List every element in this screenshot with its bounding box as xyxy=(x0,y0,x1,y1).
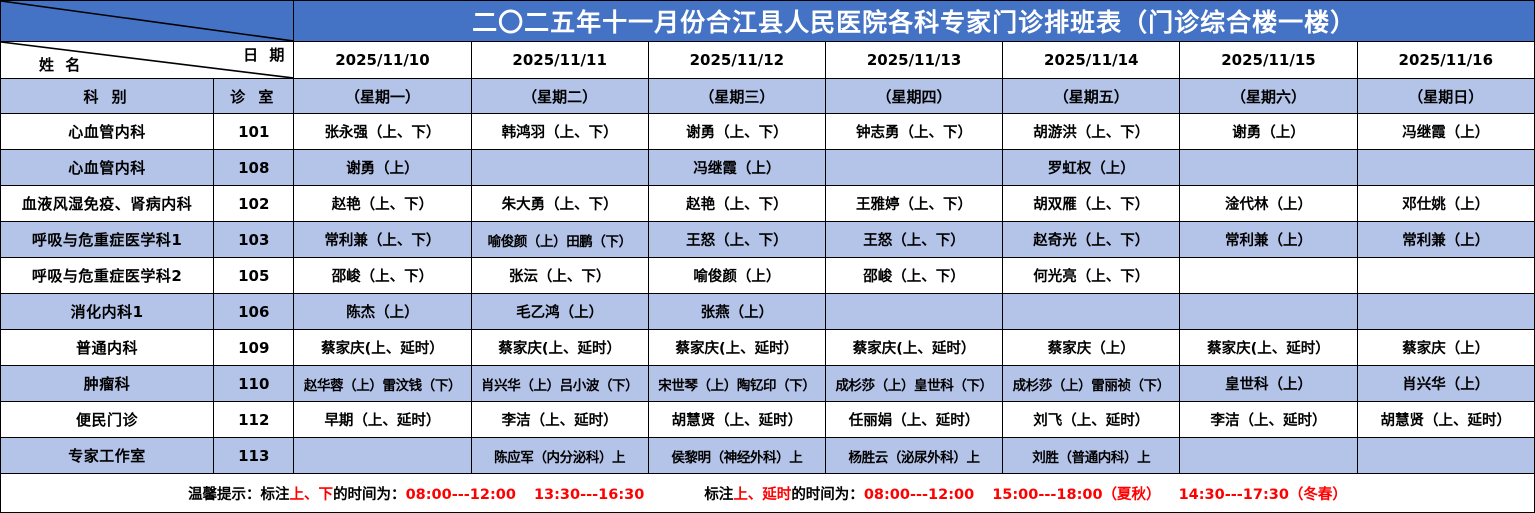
weekday-header-3: （星期四） xyxy=(825,79,1002,114)
weekday-header-2: （星期三） xyxy=(648,79,825,114)
title-row: 二〇二五年十一月份合江县人民医院各科专家门诊排班表（门诊综合楼一楼） xyxy=(1,1,1535,42)
room-number: 103 xyxy=(214,222,294,258)
schedule-cell: 常利兼（上、下） xyxy=(294,222,471,258)
schedule-cell: 胡双雁（上、下） xyxy=(1003,186,1180,222)
dept-name: 血液风湿免疫、肾病内科 xyxy=(1,186,214,222)
schedule-table: 二〇二五年十一月份合江县人民医院各科专家门诊排班表（门诊综合楼一楼） 姓 名 日… xyxy=(0,0,1535,513)
schedule-cell xyxy=(1003,294,1180,330)
schedule-cell: 刘飞（上、延时） xyxy=(1003,402,1180,438)
schedule-cell: 成杉莎（上）雷丽祯（下） xyxy=(1003,366,1180,402)
table-row: 便民门诊 112 早期（上、延时） 李洁（上、延时） 胡慧贤（上、延时） 任丽娟… xyxy=(1,402,1535,438)
schedule-cell: 胡慧贤（上、延时） xyxy=(1357,402,1534,438)
schedule-cell: 王雅婷（上、下） xyxy=(825,186,1002,222)
schedule-cell xyxy=(1180,438,1357,474)
schedule-cell xyxy=(294,438,471,474)
room-number: 109 xyxy=(214,330,294,366)
schedule-cell: 蔡家庆(上、延时） xyxy=(471,330,648,366)
schedule-cell xyxy=(1180,150,1357,186)
weekday-header-6: （星期日） xyxy=(1357,79,1534,114)
schedule-cell: 谢勇（上） xyxy=(1180,114,1357,150)
schedule-cell xyxy=(1180,294,1357,330)
schedule-cell: 朱大勇（上、下） xyxy=(471,186,648,222)
schedule-cell: 张燕（上） xyxy=(648,294,825,330)
schedule-cell: 陈杰（上） xyxy=(294,294,471,330)
schedule-cell: 赵奇光（上、下） xyxy=(1003,222,1180,258)
schedule-cell: 皇世科（上） xyxy=(1180,366,1357,402)
schedule-cell xyxy=(1357,294,1534,330)
schedule-cell: 韩鸿羽（上、下） xyxy=(471,114,648,150)
schedule-cell: 蔡家庆(上、延时） xyxy=(825,330,1002,366)
schedule-cell xyxy=(1357,150,1534,186)
schedule-cell xyxy=(825,150,1002,186)
name-label: 姓 名 xyxy=(39,54,83,75)
note-time-3: 08:00---12:00 xyxy=(864,487,974,503)
weekday-header-5: （星期六） xyxy=(1180,79,1357,114)
dept-name: 心血管内科 xyxy=(1,150,214,186)
schedule-cell: 赵艳（上、下） xyxy=(648,186,825,222)
room-number: 102 xyxy=(214,186,294,222)
schedule-cell: 淦代林（上） xyxy=(1180,186,1357,222)
schedule-cell: 成杉莎（上）皇世科（下） xyxy=(825,366,1002,402)
schedule-cell xyxy=(471,150,648,186)
table-row: 呼吸与危重症医学科1 103 常利兼（上、下） 喻俊颜（上）田鹏（下） 王怒（上… xyxy=(1,222,1535,258)
note-time-2: 13:30---16:30 xyxy=(534,487,644,503)
weekday-header-0: （星期一） xyxy=(294,79,471,114)
dept-name: 呼吸与危重症医学科2 xyxy=(1,258,214,294)
schedule-cell: 刘胜（普通内科）上 xyxy=(1003,438,1180,474)
schedule-cell xyxy=(1357,438,1534,474)
schedule-cell: 蔡家庆（上） xyxy=(1003,330,1180,366)
schedule-cell: 蔡家庆(上、延时） xyxy=(1180,330,1357,366)
weekday-header-1: （星期二） xyxy=(471,79,648,114)
date-header-0: 2025/11/10 xyxy=(294,42,471,79)
footer-note-row: 温馨提示：标注上、下的时间为：08:00---12:0013:30---16:3… xyxy=(1,474,1535,513)
room-number: 112 xyxy=(214,402,294,438)
dept-name: 消化内科1 xyxy=(1,294,214,330)
dept-name: 普通内科 xyxy=(1,330,214,366)
schedule-cell: 早期（上、延时） xyxy=(294,402,471,438)
table-row: 呼吸与危重症医学科2 105 邵峻（上、下） 张沄（上、下） 喻俊颜（上） 邵峻… xyxy=(1,258,1535,294)
schedule-cell: 李洁（上、延时） xyxy=(1180,402,1357,438)
note-seg2-tail: 的时间为： xyxy=(791,487,864,503)
schedule-cell xyxy=(825,294,1002,330)
schedule-cell: 谢勇（上、下） xyxy=(648,114,825,150)
dept-name: 专家工作室 xyxy=(1,438,214,474)
schedule-cell: 蔡家庆(上、延时） xyxy=(294,330,471,366)
schedule-cell: 王怒（上、下） xyxy=(825,222,1002,258)
schedule-cell: 肖兴华（上）吕小波（下） xyxy=(471,366,648,402)
note-shang-yanshi: 上、延时 xyxy=(733,487,791,503)
note-seg1-tail: 的时间为： xyxy=(333,487,406,503)
schedule-cell: 蔡家庆(上、延时） xyxy=(648,330,825,366)
schedule-cell: 杨胜云（泌尿外科）上 xyxy=(825,438,1002,474)
date-header-2: 2025/11/12 xyxy=(648,42,825,79)
schedule-cell: 喻俊颜（上）田鹏（下） xyxy=(471,222,648,258)
date-header-4: 2025/11/14 xyxy=(1003,42,1180,79)
schedule-cell: 毛乙鸿（上） xyxy=(471,294,648,330)
schedule-cell: 张永强（上、下） xyxy=(294,114,471,150)
title-corner-cell xyxy=(1,1,294,42)
dept-name: 肿瘤科 xyxy=(1,366,214,402)
table-row: 心血管内科 108 谢勇（上） 冯继霞（上） 罗虹权（上） xyxy=(1,150,1535,186)
schedule-cell: 胡游洪（上、下） xyxy=(1003,114,1180,150)
table-row: 消化内科1 106 陈杰（上） 毛乙鸿（上） 张燕（上） xyxy=(1,294,1535,330)
schedule-cell: 任丽娟（上、延时） xyxy=(825,402,1002,438)
schedule-cell: 喻俊颜（上） xyxy=(648,258,825,294)
schedule-cell: 邓仕姚（上） xyxy=(1357,186,1534,222)
room-number: 101 xyxy=(214,114,294,150)
name-date-corner: 姓 名 日 期 xyxy=(1,42,294,79)
table-row: 普通内科 109 蔡家庆(上、延时） 蔡家庆(上、延时） 蔡家庆(上、延时） 蔡… xyxy=(1,330,1535,366)
schedule-cell: 宋世琴（上）陶钇印（下） xyxy=(648,366,825,402)
schedule-cell: 王怒（上、下） xyxy=(648,222,825,258)
weekday-header-row: 科 别 诊 室 （星期一） （星期二） （星期三） （星期四） （星期五） （星… xyxy=(1,79,1535,114)
date-header-row: 姓 名 日 期 2025/11/10 2025/11/11 2025/11/12… xyxy=(1,42,1535,79)
dept-name: 便民门诊 xyxy=(1,402,214,438)
schedule-cell: 罗虹权（上） xyxy=(1003,150,1180,186)
table-row: 心血管内科 101 张永强（上、下） 韩鸿羽（上、下） 谢勇（上、下） 钟志勇（… xyxy=(1,114,1535,150)
table-row: 专家工作室 113 陈应军（内分泌科）上 侯黎明（神经外科）上 杨胜云（泌尿外科… xyxy=(1,438,1535,474)
table-row: 血液风湿免疫、肾病内科 102 赵艳（上、下） 朱大勇（上、下） 赵艳（上、下）… xyxy=(1,186,1535,222)
schedule-cell: 邵峻（上、下） xyxy=(825,258,1002,294)
schedule-cell: 常利兼（上） xyxy=(1180,222,1357,258)
table-row: 肿瘤科 110 赵华蓉（上）雷汶钱（下） 肖兴华（上）吕小波（下） 宋世琴（上）… xyxy=(1,366,1535,402)
schedule-cell xyxy=(1180,258,1357,294)
schedule-cell: 冯继霞（上） xyxy=(648,150,825,186)
weekday-header-4: （星期五） xyxy=(1003,79,1180,114)
diagonal-divider-icon xyxy=(1,1,293,41)
schedule-cell: 赵华蓉（上）雷汶钱（下） xyxy=(294,366,471,402)
schedule-cell: 常利兼（上） xyxy=(1357,222,1534,258)
room-column-header: 诊 室 xyxy=(214,79,294,114)
date-header-1: 2025/11/11 xyxy=(471,42,648,79)
note-time-4: 15:00---18:00（夏秋） xyxy=(992,487,1160,503)
room-number: 105 xyxy=(214,258,294,294)
schedule-cell xyxy=(1357,258,1534,294)
schedule-cell: 肖兴华（上） xyxy=(1357,366,1534,402)
schedule-cell: 钟志勇（上、下） xyxy=(825,114,1002,150)
schedule-cell: 邵峻（上、下） xyxy=(294,258,471,294)
date-header-3: 2025/11/13 xyxy=(825,42,1002,79)
date-label: 日 期 xyxy=(243,44,287,65)
schedule-cell: 冯继霞（上） xyxy=(1357,114,1534,150)
note-time-1: 08:00---12:00 xyxy=(406,487,516,503)
date-header-5: 2025/11/15 xyxy=(1180,42,1357,79)
room-number: 110 xyxy=(214,366,294,402)
schedule-cell: 蔡家庆（上） xyxy=(1357,330,1534,366)
page-title: 二〇二五年十一月份合江县人民医院各科专家门诊排班表（门诊综合楼一楼） xyxy=(472,8,1356,37)
footer-note-cell: 温馨提示：标注上、下的时间为：08:00---12:0013:30---16:3… xyxy=(1,474,1535,513)
schedule-cell: 胡慧贤（上、延时） xyxy=(648,402,825,438)
note-seg2-prefix: 标注 xyxy=(704,487,733,503)
schedule-sheet: 二〇二五年十一月份合江县人民医院各科专家门诊排班表（门诊综合楼一楼） 姓 名 日… xyxy=(0,0,1535,511)
note-prefix: 温馨提示：标注 xyxy=(188,487,290,503)
schedule-cell: 张沄（上、下） xyxy=(471,258,648,294)
room-number: 108 xyxy=(214,150,294,186)
room-number: 106 xyxy=(214,294,294,330)
dept-name: 呼吸与危重症医学科1 xyxy=(1,222,214,258)
schedule-cell: 陈应军（内分泌科）上 xyxy=(471,438,648,474)
note-shang-xia: 上、下 xyxy=(290,487,334,503)
note-time-5: 14:30---17:30（冬春） xyxy=(1179,487,1347,503)
schedule-cell: 李洁（上、延时） xyxy=(471,402,648,438)
date-header-6: 2025/11/16 xyxy=(1357,42,1534,79)
schedule-cell: 赵艳（上、下） xyxy=(294,186,471,222)
dept-column-header: 科 别 xyxy=(1,79,214,114)
dept-name: 心血管内科 xyxy=(1,114,214,150)
page-title-cell: 二〇二五年十一月份合江县人民医院各科专家门诊排班表（门诊综合楼一楼） xyxy=(294,1,1535,42)
schedule-cell: 何光亮（上、下） xyxy=(1003,258,1180,294)
schedule-cell: 侯黎明（神经外科）上 xyxy=(648,438,825,474)
schedule-cell: 谢勇（上） xyxy=(294,150,471,186)
room-number: 113 xyxy=(214,438,294,474)
